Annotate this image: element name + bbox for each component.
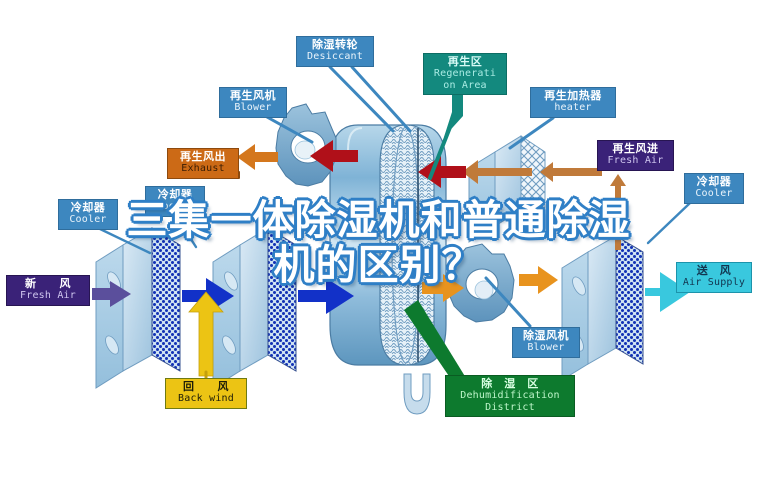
label-regeneration-blower-en: Blower (225, 102, 281, 113)
label-regeneration-blower[interactable]: 再生风机 Blower (219, 87, 287, 118)
label-desiccant-rotor[interactable]: 除湿转轮 Desiccant (296, 36, 374, 67)
flow-exhaust-out (237, 144, 278, 170)
cooler-coil-3 (562, 236, 643, 380)
label-dehumidify-blower[interactable]: 除湿风机 Blower (512, 327, 580, 358)
dehumidify-fan-housing (448, 244, 514, 322)
label-cooler-mid-left-cn: 冷却器 (151, 189, 199, 201)
label-regeneration-fresh-air-in[interactable]: 再生风进 Fresh Air (597, 140, 674, 171)
label-air-supply-out[interactable]: 送 风 Air Supply (676, 262, 752, 293)
dehumidifier-schematic: xt (0, 0, 757, 488)
label-regeneration-exhaust-cn: 再生风出 (173, 151, 233, 163)
label-regeneration-heater-cn: 再生加热器 (536, 90, 610, 102)
label-regeneration-area-cn: 再生区 (429, 56, 501, 68)
label-cooler-mid-left[interactable]: 冷却器 Cooler (145, 186, 205, 217)
label-dehumidification-district-en-line1: Dehumidification (451, 390, 569, 401)
label-air-supply-out-en: Air Supply (682, 277, 746, 288)
diagram-canvas: xt (0, 0, 757, 488)
label-cooler-left-en: Cooler (64, 214, 112, 225)
label-fresh-air-in[interactable]: 新 风 Fresh Air (6, 275, 90, 306)
label-cooler-left-cn: 冷却器 (64, 202, 112, 214)
label-cooler-right[interactable]: 冷却器 Cooler (684, 173, 744, 204)
label-cooler-right-cn: 冷却器 (690, 176, 738, 188)
label-regeneration-blower-cn: 再生风机 (225, 90, 281, 102)
label-cooler-right-en: Cooler (690, 188, 738, 199)
label-dehumidification-district-en-line2: District (451, 402, 569, 413)
label-dehumidification-district[interactable]: 除 湿 区 Dehumidification District (445, 375, 575, 417)
flow-blower-to-cooler (519, 266, 558, 294)
cooler-coil-2 (213, 228, 296, 388)
label-desiccant-rotor-en: Desiccant (302, 51, 368, 62)
label-regeneration-exhaust-en: Exhaust (173, 163, 233, 174)
label-regeneration-area-en-line1: Regenerati (429, 68, 501, 79)
label-regeneration-exhaust[interactable]: 再生风出 Exhaust (167, 148, 239, 179)
label-back-wind-cn: 回 风 (171, 381, 241, 393)
condensate-drain (404, 374, 430, 414)
label-dehumidify-blower-en: Blower (518, 342, 574, 353)
label-regeneration-fresh-air-in-en: Fresh Air (603, 155, 668, 166)
label-fresh-air-in-cn: 新 风 (12, 278, 84, 290)
label-dehumidify-blower-cn: 除湿风机 (518, 330, 574, 342)
label-back-wind-en: Back wind (171, 393, 241, 404)
flow-regen-fresh-in (540, 162, 626, 250)
label-regeneration-area[interactable]: 再生区 Regenerati on Area (423, 53, 507, 95)
heater-coil (469, 136, 545, 242)
cooler-coil-1 (96, 228, 180, 388)
svg-text:xt: xt (392, 311, 401, 321)
label-regeneration-heater-en: heater (536, 102, 610, 113)
label-regeneration-fresh-air-in-cn: 再生风进 (603, 143, 668, 155)
label-fresh-air-in-en: Fresh Air (12, 290, 84, 301)
label-cooler-mid-left-en: Cooler (151, 201, 199, 212)
label-air-supply-out-cn: 送 风 (682, 265, 746, 277)
label-cooler-left[interactable]: 冷却器 Cooler (58, 199, 118, 230)
label-regeneration-area-en-line2: on Area (429, 80, 501, 91)
label-regeneration-heater[interactable]: 再生加热器 heater (530, 87, 616, 118)
label-back-wind[interactable]: 回 风 Back wind (165, 378, 247, 409)
label-desiccant-rotor-cn: 除湿转轮 (302, 39, 368, 51)
label-dehumidification-district-cn: 除 湿 区 (451, 378, 569, 390)
